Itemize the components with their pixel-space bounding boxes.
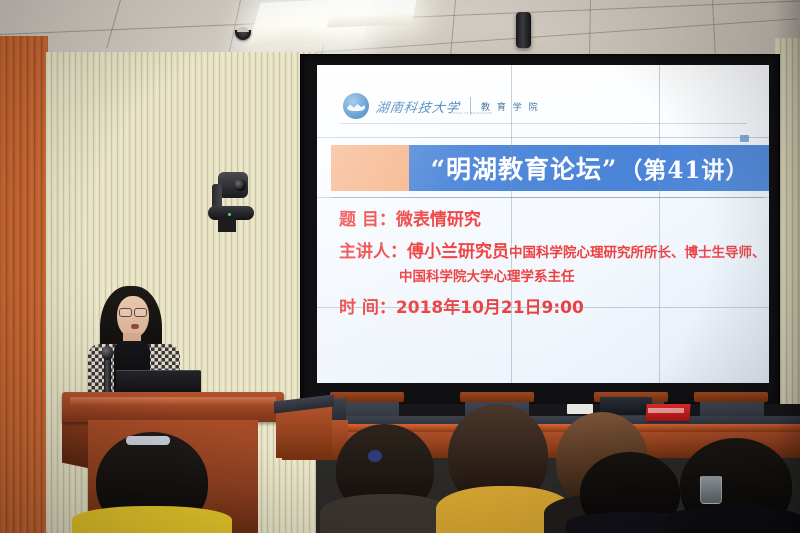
ptz-video-camera-icon bbox=[208, 168, 254, 220]
video-wall-seam-h1 bbox=[317, 137, 769, 138]
presenter-face bbox=[117, 296, 149, 338]
time-label: 时 间： bbox=[339, 298, 396, 318]
title-band-text-wrap: “明湖教育论坛” （第41讲） bbox=[417, 145, 763, 191]
ceiling-light-panel-2 bbox=[327, 0, 417, 27]
banner-subtitle: （第41讲） bbox=[619, 151, 749, 185]
chair-frame bbox=[460, 392, 534, 402]
lectern-top bbox=[62, 392, 284, 422]
slide-title-band: “明湖教育论坛” （第41讲） bbox=[317, 145, 769, 191]
topic-label: 题 目： bbox=[339, 210, 396, 230]
lecture-hall-scene: 湖南科技大学 教 育 学 院 SCHOOL OF EDUCATION “明湖教育… bbox=[0, 0, 800, 533]
red-name-card-label bbox=[648, 408, 684, 413]
video-wall-seam-v2 bbox=[659, 65, 660, 383]
speaker-title-line2: 中国科学院大学心理学系主任 bbox=[399, 265, 759, 285]
camera-lens bbox=[234, 179, 246, 191]
topic-line: 题 目：微表情研究 bbox=[339, 205, 759, 230]
slide-body: 题 目：微表情研究 主讲人：傅小兰研究员中国科学院心理研究所所长、博士生导师、 … bbox=[339, 205, 759, 318]
hair-accessory bbox=[368, 450, 382, 462]
title-band-orange-block bbox=[331, 145, 409, 191]
presenter-mouth bbox=[131, 324, 139, 329]
chair-frame bbox=[694, 392, 768, 402]
glasses-icon-right bbox=[134, 308, 147, 317]
time-line: 时 间：2018年10月21日9:00 bbox=[339, 293, 759, 318]
video-wall-seam-h3 bbox=[317, 307, 769, 308]
camera-led bbox=[228, 213, 231, 216]
slide-header: 湖南科技大学 教 育 学 院 bbox=[343, 91, 593, 121]
audience-shoulders bbox=[320, 494, 452, 533]
white-tissue-box bbox=[567, 404, 593, 414]
wall-panel-orange bbox=[0, 36, 48, 533]
video-wall-seam-h2 bbox=[317, 197, 769, 198]
time-value: 2018年10月21日9:00 bbox=[396, 298, 584, 318]
topic-value: 微表情研究 bbox=[396, 210, 481, 230]
banner-title: “明湖教育论坛” bbox=[431, 150, 618, 186]
camera-wall-mount bbox=[218, 218, 236, 232]
audience-shoulders bbox=[72, 506, 232, 533]
video-wall-seam-v1 bbox=[511, 65, 512, 383]
speaker-line: 主讲人：傅小兰研究员中国科学院心理研究所所长、博士生导师、 bbox=[339, 237, 759, 262]
video-wall-display[interactable]: 湖南科技大学 教 育 学 院 SCHOOL OF EDUCATION “明湖教育… bbox=[300, 54, 780, 408]
ceiling-speaker-icon bbox=[516, 12, 531, 48]
speaker-label: 主讲人： bbox=[339, 242, 407, 262]
speaker-title-line1: 中国科学院心理研究所所长、博士生导师、 bbox=[509, 245, 766, 261]
hair-accessory bbox=[126, 436, 170, 445]
water-glass bbox=[700, 476, 722, 504]
microphone-head bbox=[102, 346, 113, 360]
university-emblem-icon bbox=[343, 93, 369, 119]
presentation-slide: 湖南科技大学 教 育 学 院 SCHOOL OF EDUCATION “明湖教育… bbox=[317, 65, 769, 383]
header-rule bbox=[339, 123, 747, 124]
glasses-icon bbox=[119, 308, 132, 317]
right-wall-shadow bbox=[774, 0, 800, 533]
camera-head bbox=[218, 172, 248, 198]
speaker-name: 傅小兰研究员 bbox=[407, 242, 509, 262]
screen-surface: 湖南科技大学 教 育 学 院 SCHOOL OF EDUCATION “明湖教育… bbox=[317, 65, 769, 383]
college-name-english: SCHOOL OF EDUCATION bbox=[448, 111, 492, 115]
